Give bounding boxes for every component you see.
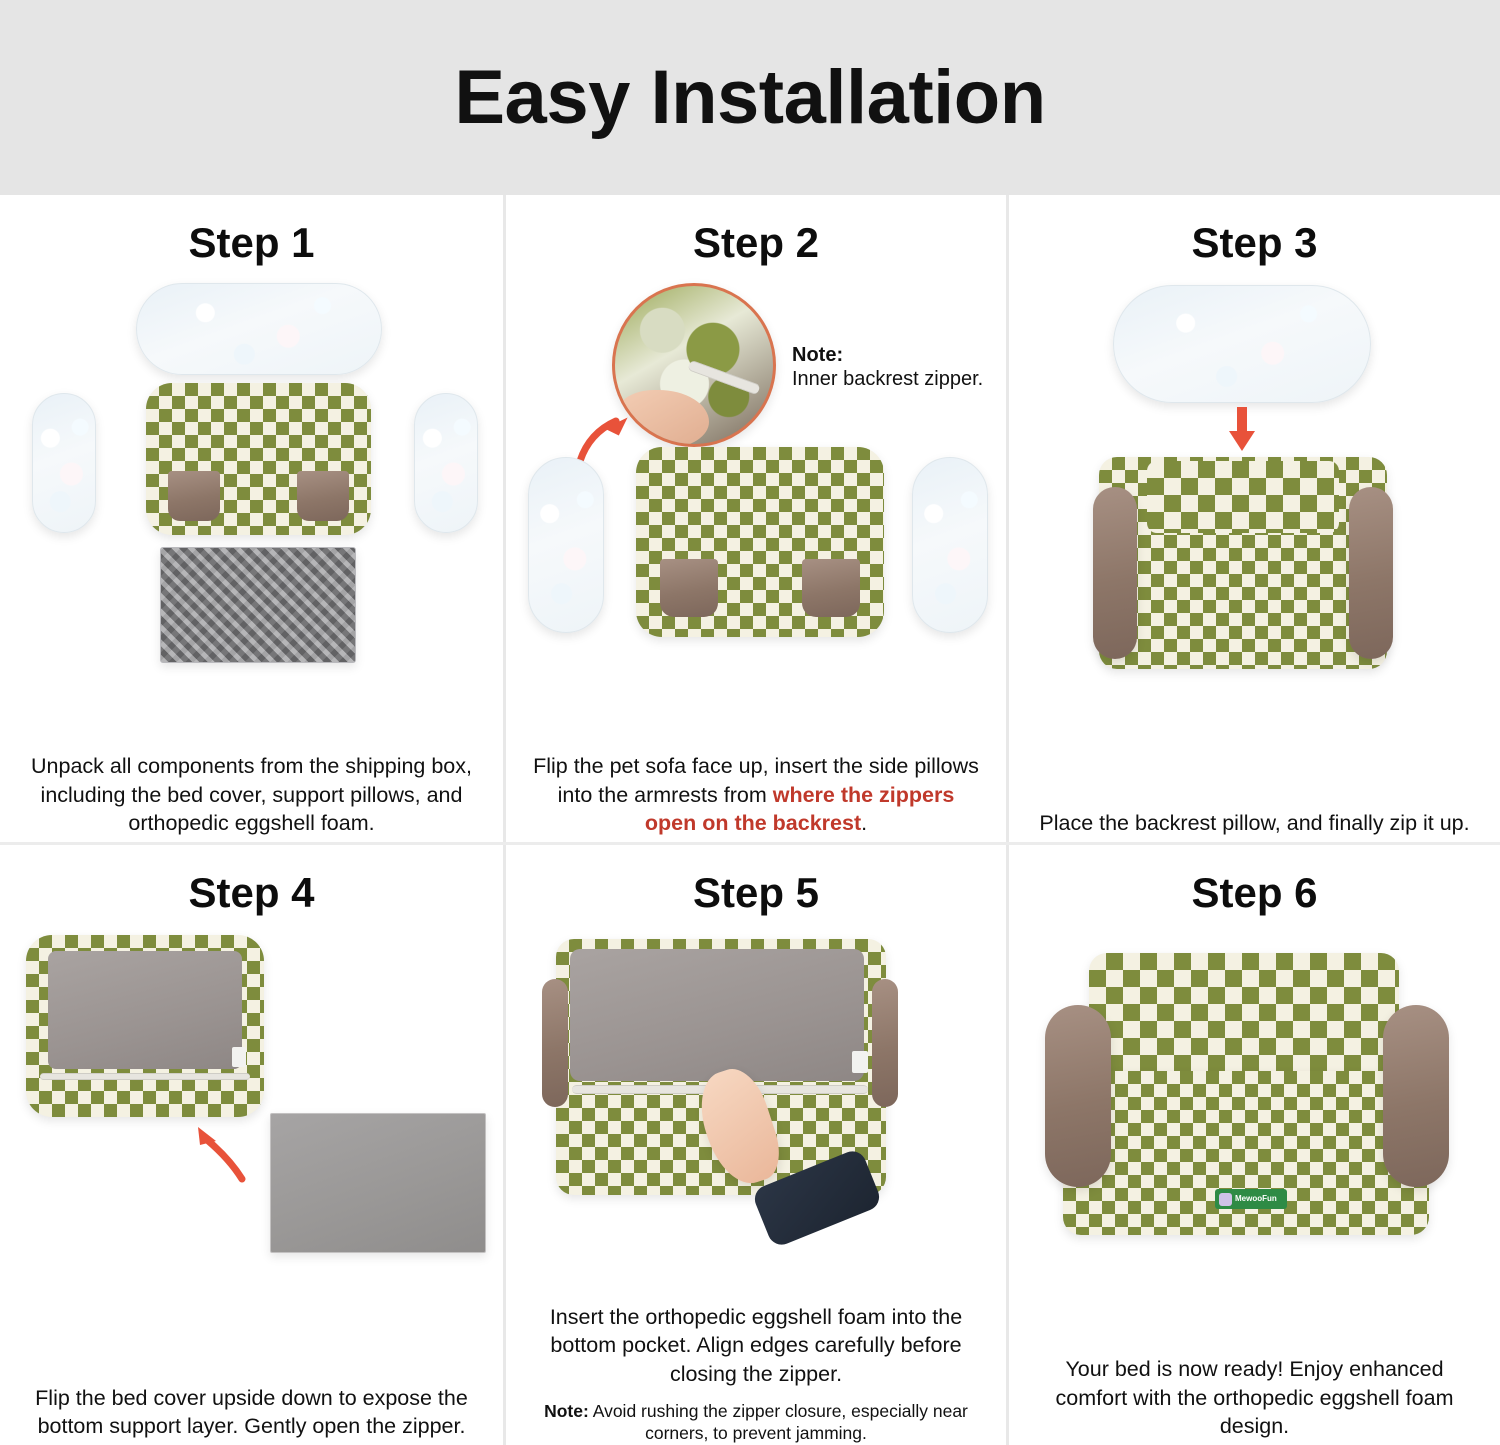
zipper-detail xyxy=(687,360,760,396)
pocket-flap-right xyxy=(297,471,349,521)
step-cell-6: Step 6 MewooFun Your bed is now ready! E… xyxy=(1009,845,1500,1445)
zipper-edge xyxy=(40,1073,250,1080)
down-arrow-icon xyxy=(1225,407,1259,453)
step-cell-4: Step 4 Flip the bed cover upside down to… xyxy=(0,845,503,1445)
step-5-illustration xyxy=(520,921,992,1303)
curved-arrow-icon xyxy=(572,403,636,465)
note-text: Avoid rushing the zipper closure, especi… xyxy=(593,1401,968,1444)
pocket-flap-left xyxy=(168,471,220,521)
step-cell-1: Step 1 Unpack all components from the sh… xyxy=(0,195,503,842)
assembled-armrest-right xyxy=(1383,1005,1449,1187)
side-pillow-left-packaged xyxy=(528,457,604,633)
note-title: Note: xyxy=(792,343,1002,367)
side-pillow-right xyxy=(414,393,478,533)
step-6-caption: Your bed is now ready! Enjoy enhanced co… xyxy=(1032,1355,1476,1445)
step-3-caption: Place the backrest pillow, and finally z… xyxy=(1032,809,1476,842)
note-text: Inner backrest zipper. xyxy=(792,367,1002,392)
step-2-title: Step 2 xyxy=(693,221,819,265)
bed-cover-flipped xyxy=(26,935,264,1117)
pocket-flap-left xyxy=(660,559,718,617)
bed-cover-face-up xyxy=(636,447,884,637)
bed-cover xyxy=(146,383,371,535)
assembled-seat: MewooFun xyxy=(1063,1071,1429,1235)
step-cell-5: Step 5 Insert the orthopedic eggshell fo… xyxy=(506,845,1006,1445)
step-2-caption: Flip the pet sofa face up, insert the si… xyxy=(529,752,982,842)
eggshell-foam xyxy=(160,547,356,663)
backrest-panel xyxy=(1147,461,1339,533)
step-1-illustration xyxy=(14,271,489,752)
step-2-illustration: Note: Inner backrest zipper. xyxy=(520,271,992,752)
brand-label: MewooFun xyxy=(1235,1195,1277,1203)
arrow-shaft xyxy=(1237,407,1247,433)
pocket-flap-right xyxy=(802,559,860,617)
step-4-illustration xyxy=(14,921,489,1384)
step-1-caption: Unpack all components from the shipping … xyxy=(24,752,480,842)
arrow-head xyxy=(1229,431,1255,451)
step-3-illustration xyxy=(1023,271,1486,809)
armrest-left-edge xyxy=(542,979,568,1107)
brand-logo-icon xyxy=(1219,1193,1232,1206)
step-6-title: Step 6 xyxy=(1191,871,1317,915)
zipper-detail-circle xyxy=(612,283,776,447)
backrest-pillow xyxy=(1113,285,1371,403)
step-1-title: Step 1 xyxy=(188,221,314,265)
brand-tag: MewooFun xyxy=(1215,1189,1287,1209)
step-5-note: Note: Avoid rushing the zipper closure, … xyxy=(525,1400,988,1445)
note-annotation-step2: Note: Inner backrest zipper. xyxy=(792,343,1002,392)
armrest-left xyxy=(1093,487,1137,659)
step-cell-2: Step 2 Note: Inner backrest zipper. xyxy=(506,195,1006,842)
assembled-armrest-left xyxy=(1045,1005,1111,1187)
assembled-backrest xyxy=(1089,953,1399,1081)
side-pillow-right-packaged xyxy=(912,457,988,633)
fabric-tab xyxy=(852,1051,868,1073)
armrest-right xyxy=(1349,487,1393,659)
page-title: Easy Installation xyxy=(454,60,1045,136)
step-4-caption: Flip the bed cover upside down to expose… xyxy=(24,1384,480,1445)
fabric-tab xyxy=(232,1047,246,1067)
step-4-title: Step 4 xyxy=(188,871,314,915)
backrest-pillow-packaged xyxy=(136,283,382,375)
sofa-body xyxy=(1099,457,1387,669)
bottom-support-layer xyxy=(570,949,864,1081)
armrest-right-edge xyxy=(872,979,898,1107)
steps-grid: Step 1 Unpack all components from the sh… xyxy=(0,195,1500,1445)
step-6-illustration: MewooFun xyxy=(1023,921,1486,1355)
step-5-title: Step 5 xyxy=(693,871,819,915)
side-pillow-left xyxy=(32,393,96,533)
step-cell-3: Step 3 Place the backrest pillow, and fi… xyxy=(1009,195,1500,842)
header-band: Easy Installation xyxy=(0,0,1500,195)
step-2-caption-after: . xyxy=(861,811,867,835)
eggshell-foam-slab xyxy=(270,1113,486,1253)
step-5-caption: Insert the orthopedic eggshell foam into… xyxy=(529,1303,982,1393)
bottom-support-layer xyxy=(48,951,242,1069)
note-title: Note: xyxy=(544,1401,589,1421)
curved-arrow-icon xyxy=(192,1117,258,1185)
step-3-title: Step 3 xyxy=(1191,221,1317,265)
